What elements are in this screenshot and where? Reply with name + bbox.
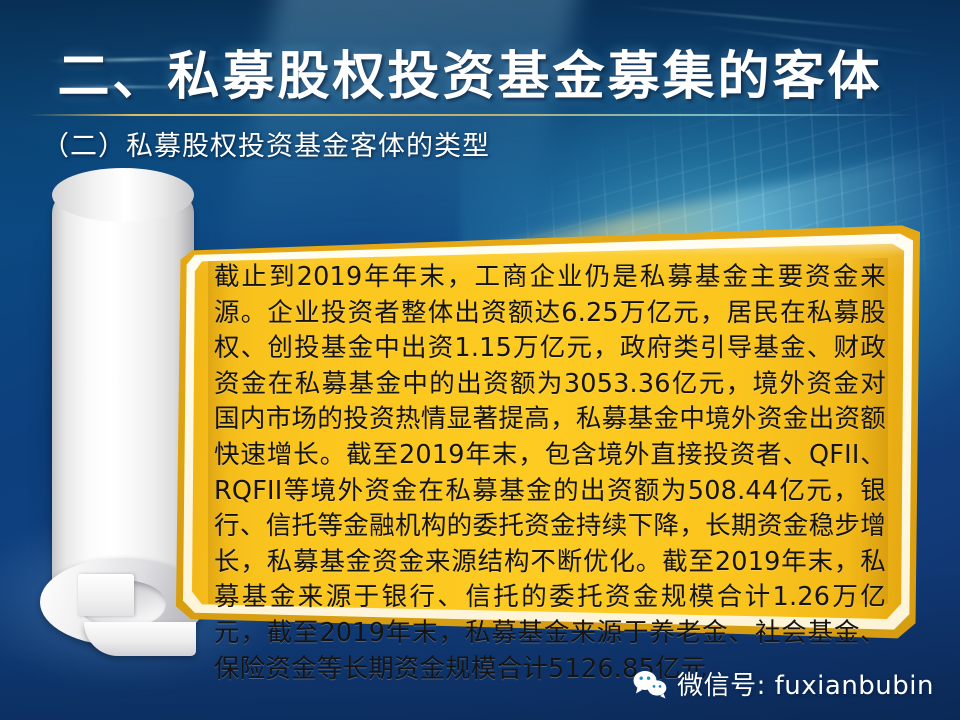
content-banner: 截止到2019年年末，工商企业仍是私募基金主要资金来源。企业投资者整体出资额达6… bbox=[176, 222, 920, 640]
wechat-icon bbox=[633, 669, 667, 699]
scroll-cylinder bbox=[52, 174, 194, 594]
page-subtitle: （二）私募股权投资基金客体的类型 bbox=[42, 124, 490, 163]
footer-wechat-id: 微信号: fuxianbubin bbox=[677, 665, 934, 702]
banner-body-text: 截止到2019年年末，工商企业仍是私募基金主要资金来源。企业投资者整体出资额达6… bbox=[214, 260, 886, 687]
scroll-roll-tab bbox=[78, 574, 134, 616]
page-title: 二、私募股权投资基金募集的客体 bbox=[0, 34, 940, 109]
title-divider bbox=[28, 114, 916, 116]
slide-canvas: 二、私募股权投资基金募集的客体 （二）私募股权投资基金客体的类型 截止到2019… bbox=[0, 0, 960, 720]
light-ray-3 bbox=[620, 5, 919, 33]
footer-watermark: 微信号: fuxianbubin bbox=[633, 665, 934, 702]
scroll-top-cap bbox=[52, 168, 194, 222]
